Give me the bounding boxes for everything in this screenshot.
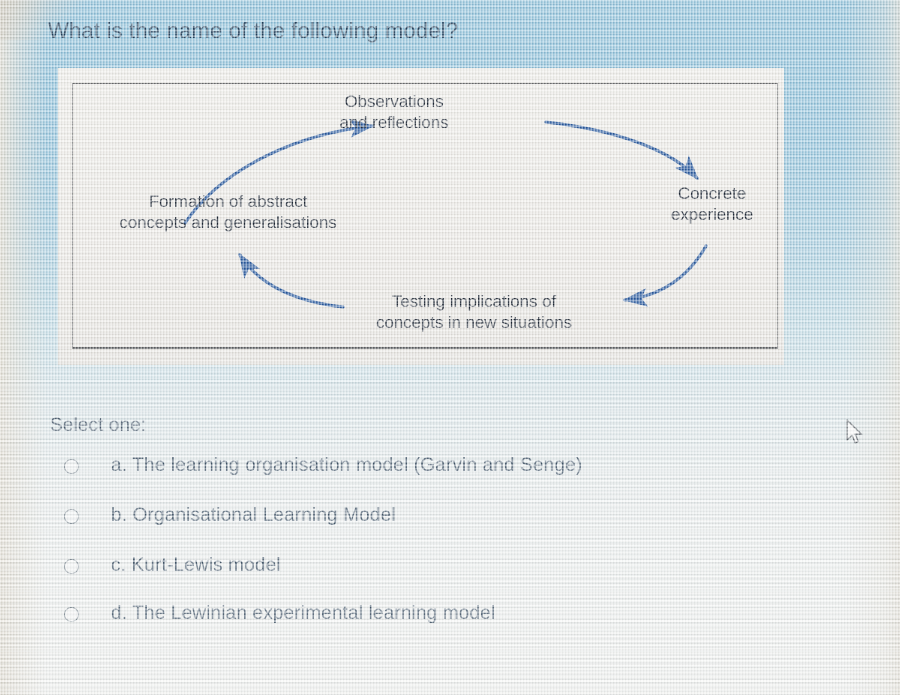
label-line: Observations [339,91,448,112]
label-formation-of-abstract-concepts: Formation of abstract concepts and gener… [119,191,336,233]
radio-button-b[interactable] [64,509,79,524]
option-row-b[interactable]: b. Organisational Learning Model [50,499,396,533]
option-row-d[interactable]: d. The Lewinian experimental learning mo… [50,597,495,631]
option-row-a[interactable]: a. The learning organisation model (Garv… [50,449,582,483]
quiz-screen-photo: What is the name of the following model?… [0,0,900,695]
radio-button-a[interactable] [64,459,79,474]
label-line: concepts and generalisations [119,212,336,233]
label-line: Testing implications of [376,291,572,312]
label-line: concepts in new situations [376,312,572,333]
option-label-d[interactable]: d. The Lewinian experimental learning mo… [111,603,495,625]
label-testing-implications: Testing implications of concepts in new … [376,291,572,333]
arrow-observations-to-concrete [546,122,697,178]
option-label-c[interactable]: c. Kurt-Lewis model [111,555,281,577]
label-line: and reflections [339,112,448,133]
label-line: experience [671,204,753,225]
select-one-prompt: Select one: [50,415,146,437]
label-concrete-experience: Concrete experience [671,183,753,225]
option-row-c[interactable]: c. Kurt-Lewis model [50,549,281,583]
option-label-b[interactable]: b. Organisational Learning Model [111,505,396,527]
arrow-testing-to-formation [240,255,343,307]
arrow-concrete-to-testing [625,246,706,300]
page-title: What is the name of the following model? [48,18,458,44]
label-line: Formation of abstract [119,191,336,212]
option-label-a[interactable]: a. The learning organisation model (Garv… [111,455,582,477]
radio-button-d[interactable] [64,607,79,622]
label-observations-and-reflections: Observations and reflections [339,91,448,133]
radio-button-c[interactable] [64,559,79,574]
label-line: Concrete [671,183,753,204]
